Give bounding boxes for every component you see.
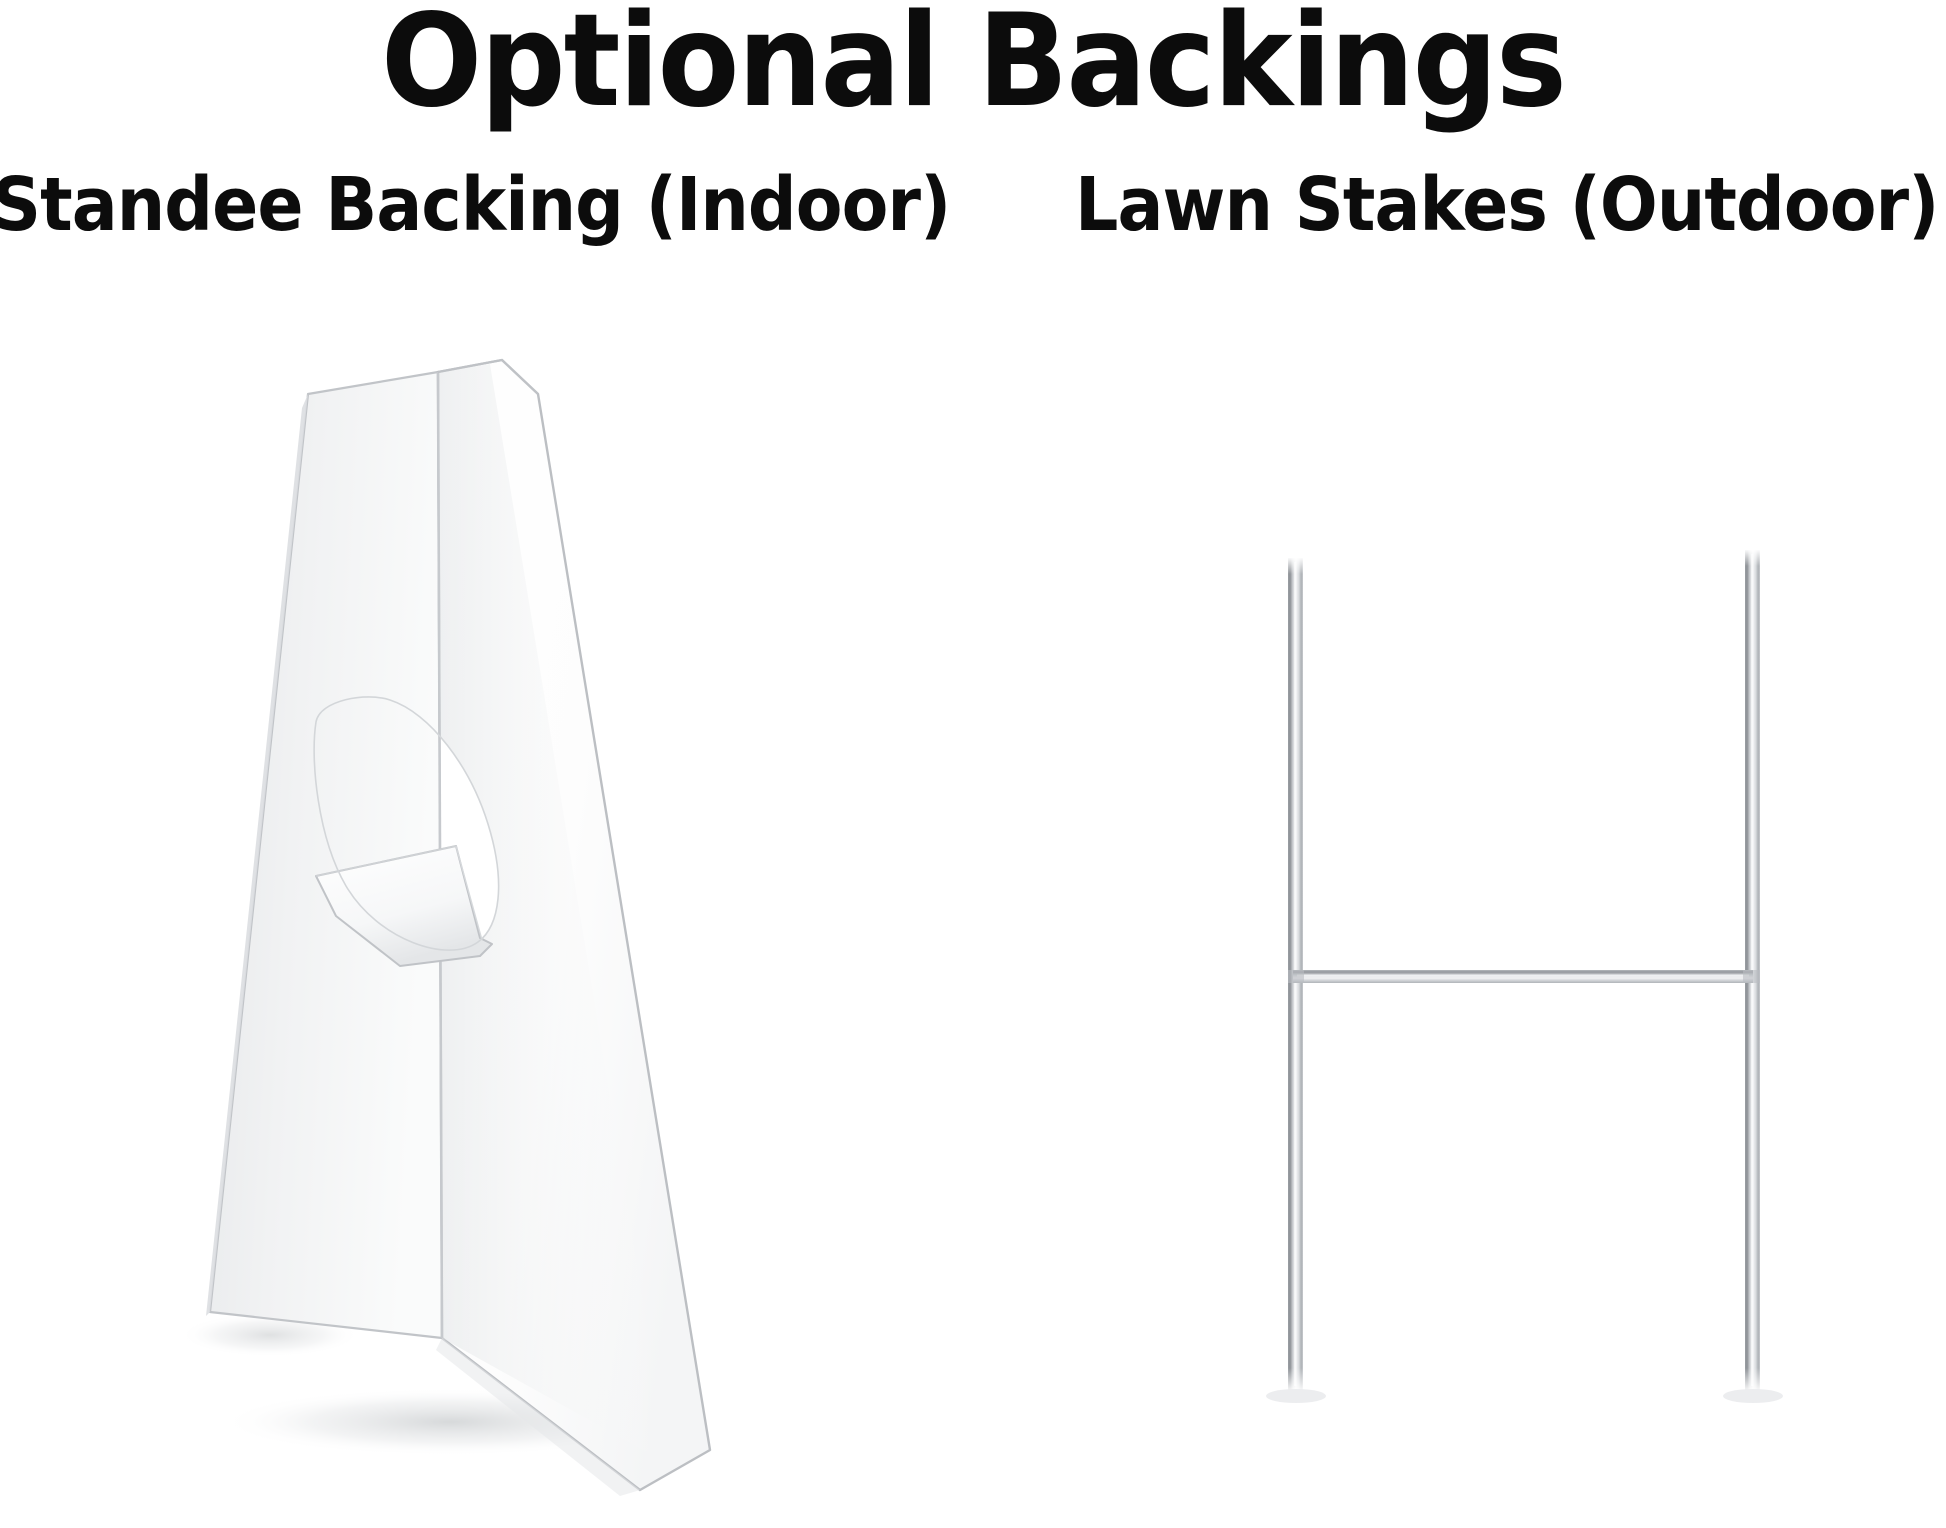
standee-backing-illustration: white folded cardboard A-frame easel sta… — [150, 290, 870, 1520]
section-headings-row: Standee Backing (Indoor) Lawn Stakes (Ou… — [0, 168, 1946, 278]
lawn-stake-crossbar — [1288, 970, 1760, 983]
section-heading-lawn-stakes: Lawn Stakes (Outdoor) — [1075, 168, 1938, 242]
standee-left-panel — [206, 372, 442, 1338]
lawn-stake-right-shadow — [1723, 1389, 1783, 1403]
page-title: Optional Backings — [68, 0, 1878, 126]
lawn-stakes-illustration: H-shaped metal wire lawn stake with two … — [1180, 400, 1880, 1480]
standee-right-panel — [438, 360, 710, 1490]
lawn-stake-left-shadow — [1266, 1389, 1326, 1403]
section-heading-standee: Standee Backing (Indoor) — [0, 168, 950, 242]
